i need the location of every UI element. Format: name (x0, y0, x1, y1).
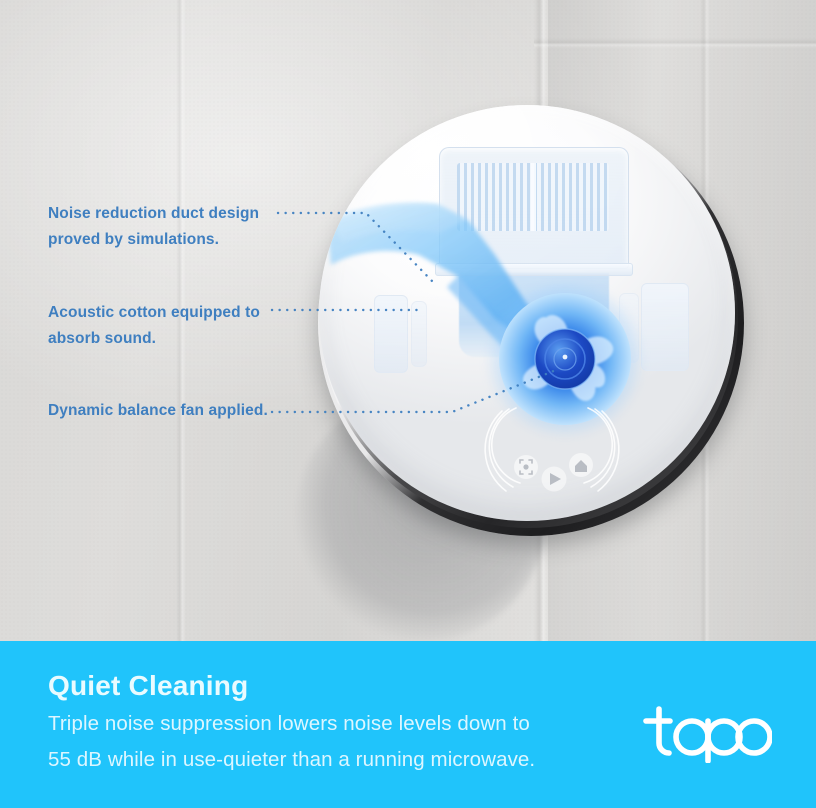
callout-line: absorb sound. (48, 326, 260, 352)
spot-clean-button (514, 455, 538, 479)
robot-vacuum (318, 110, 744, 536)
callout-noise-reduction-duct: Noise reduction duct design proved by si… (48, 201, 259, 253)
callout-dynamic-balance-fan: Dynamic balance fan applied. (48, 398, 268, 424)
callout-line: proved by simulations. (48, 227, 259, 253)
callout-line: Noise reduction duct design (48, 201, 259, 227)
vacuum-body (319, 105, 735, 521)
start-pause-button (542, 467, 567, 492)
bottom-banner: Quiet Cleaning Triple noise suppression … (0, 641, 816, 808)
banner-title: Quiet Cleaning (48, 666, 535, 706)
product-scene: Noise reduction duct design proved by si… (0, 0, 816, 641)
banner-text-block: Quiet Cleaning Triple noise suppression … (48, 666, 535, 778)
callout-line: Dynamic balance fan applied. (48, 398, 268, 424)
callout-line: Acoustic cotton equipped to (48, 300, 260, 326)
wall-seam-horizontal (534, 38, 816, 48)
banner-subtitle-line: Triple noise suppression lowers noise le… (48, 706, 535, 742)
callout-acoustic-cotton: Acoustic cotton equipped to absorb sound… (48, 300, 260, 352)
banner-subtitle-line: 55 dB while in use-quieter than a runnin… (48, 742, 535, 778)
control-panel (484, 405, 624, 515)
dock-home-button (569, 453, 593, 477)
tapo-logo (640, 705, 772, 763)
